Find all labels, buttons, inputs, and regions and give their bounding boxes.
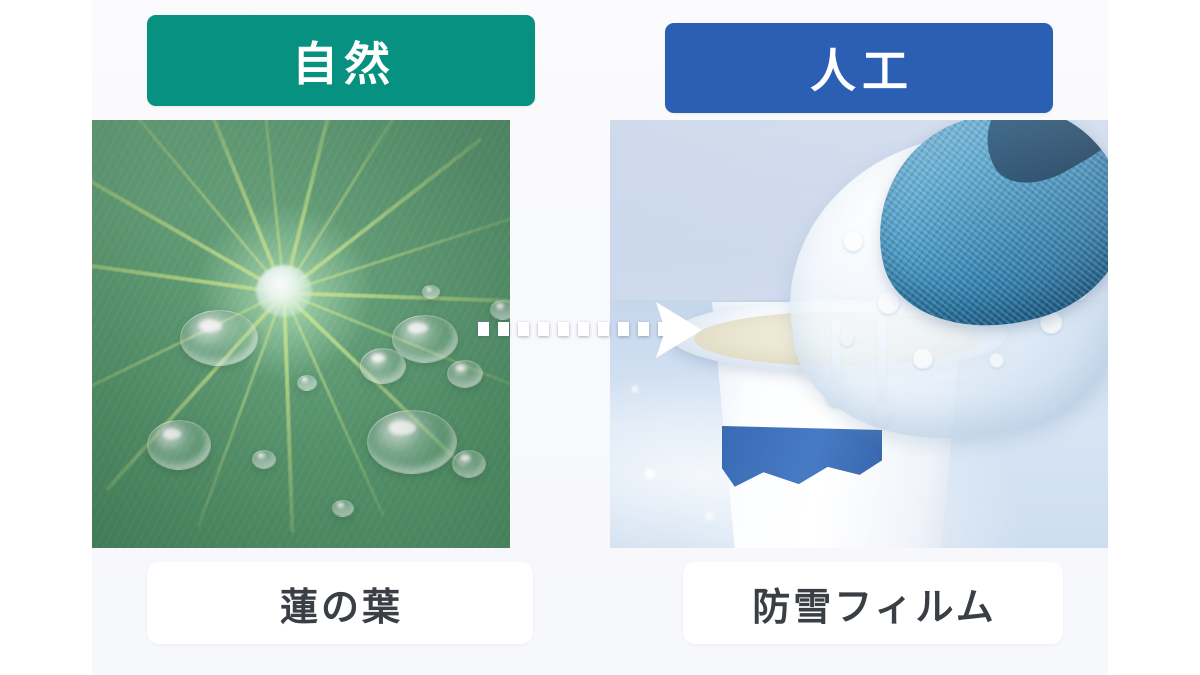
lotus-leaf-photo xyxy=(92,120,510,548)
badge-artificial: 人工 xyxy=(665,23,1053,113)
comparison-slide: 自然 人工 xyxy=(0,0,1200,675)
caption-natural: 蓮の葉 xyxy=(147,562,533,644)
badge-natural: 自然 xyxy=(147,15,535,106)
arrow-dashed-shaft xyxy=(478,322,668,336)
caption-natural-label: 蓮の葉 xyxy=(277,576,403,631)
badge-artificial-label: 人工 xyxy=(804,35,914,101)
caption-artificial: 防雪フィルム xyxy=(683,562,1063,644)
badge-natural-label: 自然 xyxy=(286,28,396,94)
leaf-vignette xyxy=(92,120,510,548)
caption-artificial-label: 防雪フィルム xyxy=(749,576,996,631)
transition-arrow xyxy=(470,300,715,360)
